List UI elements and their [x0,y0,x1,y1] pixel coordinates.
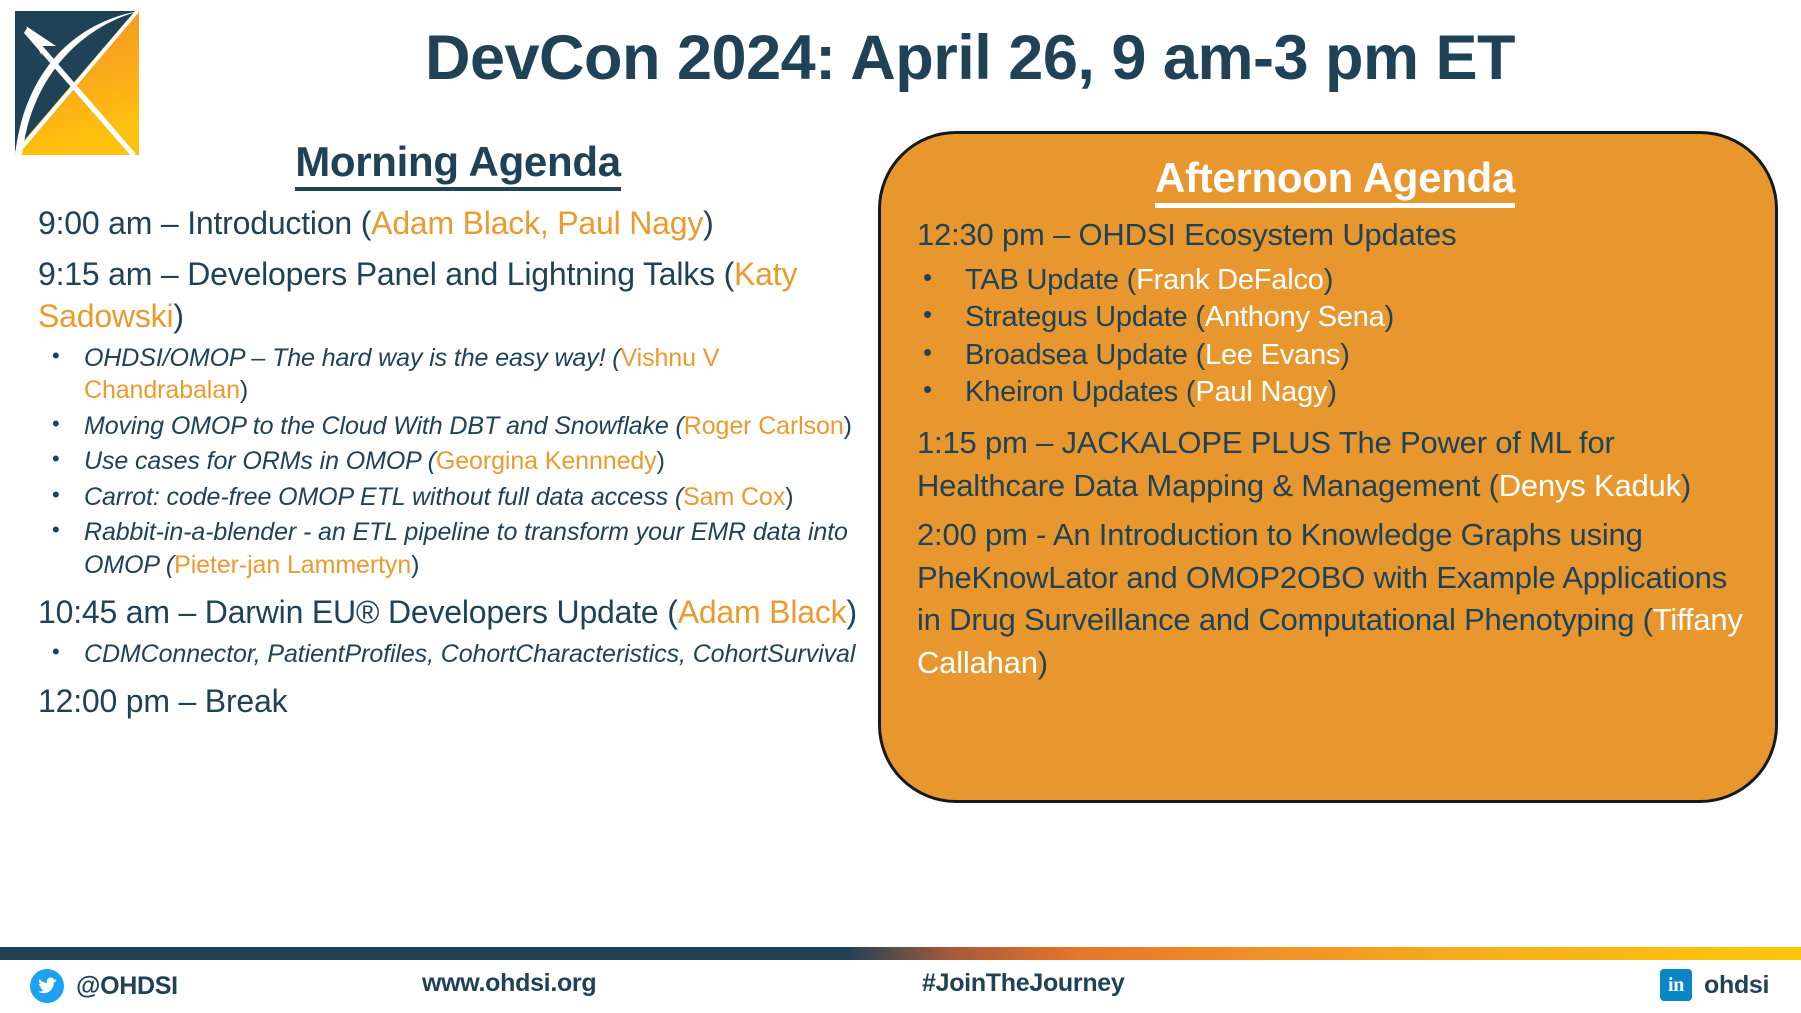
session-speakers: Anthony Sena [1205,301,1385,333]
session-paren-close: ) [657,447,665,475]
footer-twitter-handle: @OHDSI [76,972,178,1001]
footer-hashtag: #JoinTheJourney [922,969,1125,998]
afternoon-agenda-heading-text: Afternoon Agenda [1155,154,1515,208]
session-topic: 10:45 am – Darwin EU® Developers Update … [38,594,678,630]
footer: @OHDSI www.ohdsi.org #JoinTheJourney in … [0,960,1801,1013]
agenda-session: 12:30 pm – OHDSI Ecosystem Updates [917,214,1753,257]
session-paren-close: ) [703,205,713,241]
afternoon-agenda-panel: Afternoon Agenda 12:30 pm – OHDSI Ecosys… [878,131,1778,803]
session-topic: 12:00 pm – Break [38,683,287,719]
session-topic: CDMConnector, PatientProfiles, CohortCha… [84,640,855,668]
footer-website[interactable]: www.ohdsi.org [422,969,596,998]
morning-session-list: 9:00 am – Introduction (Adam Black, Paul… [38,202,878,723]
session-paren-close: ) [1327,376,1336,408]
session-speakers: Georgina Kennnedy [436,447,657,475]
twitter-bird-icon [30,969,64,1003]
session-speakers: Adam Black [678,594,847,630]
agenda-sub-list: OHDSI/OMOP – The hard way is the easy wa… [38,342,878,582]
morning-agenda-heading: Morning Agenda [38,138,878,186]
agenda-sub-item: OHDSI/OMOP – The hard way is the easy wa… [38,342,878,407]
session-speakers: Lee Evans [1205,339,1340,371]
session-speakers: Paul Nagy [1195,376,1327,408]
session-paren-close: ) [240,376,248,404]
agenda-session: 2:00 pm - An Introduction to Knowledge G… [917,514,1753,685]
session-topic: 12:30 pm – OHDSI Ecosystem Updates [917,217,1456,252]
agenda-sub-item: Use cases for ORMs in OMOP (Georgina Ken… [38,445,878,478]
agenda-sub-item: Carrot: code-free OMOP ETL without full … [38,481,878,514]
footer-website-text: www.ohdsi.org [422,969,596,998]
footer-linkedin-handle: ohdsi [1704,971,1769,1000]
session-topic: Use cases for ORMs in OMOP ( [84,447,436,475]
session-speakers: Sam Cox [683,483,785,511]
agenda-sub-item: Kheiron Updates (Paul Nagy) [917,375,1753,410]
agenda-sub-item: Strategus Update (Anthony Sena) [917,300,1753,335]
agenda-session: 1:15 pm – JACKALOPE PLUS The Power of ML… [917,422,1753,508]
session-speakers: Frank DeFalco [1136,264,1324,296]
session-topic: Strategus Update ( [965,301,1205,333]
agenda-sub-item: CDMConnector, PatientProfiles, CohortCha… [38,638,878,671]
session-paren-close: ) [844,412,852,440]
session-topic: Kheiron Updates ( [965,376,1195,408]
agenda-sub-list: TAB Update (Frank DeFalco)Strategus Upda… [917,263,1753,411]
session-topic: OHDSI/OMOP – The hard way is the easy wa… [84,344,621,372]
agenda-sub-item: TAB Update (Frank DeFalco) [917,263,1753,298]
footer-hashtag-text: #JoinTheJourney [922,969,1125,998]
session-paren-close: ) [1385,301,1394,333]
session-topic: Moving OMOP to the Cloud With DBT and Sn… [84,412,684,440]
session-paren-close: ) [411,551,419,579]
session-speakers: Adam Black, Paul Nagy [371,205,703,241]
session-paren-close: ) [173,298,183,334]
agenda-sub-item: Moving OMOP to the Cloud With DBT and Sn… [38,410,878,443]
agenda-session: 12:00 pm – Break [38,680,878,723]
session-paren-close: ) [1324,264,1333,296]
page-title: DevCon 2024: April 26, 9 am-3 pm ET [150,22,1790,94]
session-paren-close: ) [1038,645,1048,680]
linkedin-icon: in [1660,969,1692,1001]
footer-gradient-divider [0,947,1801,960]
session-speakers: Denys Kaduk [1499,468,1681,503]
morning-agenda-column: Morning Agenda 9:00 am – Introduction (A… [38,138,878,731]
agenda-sub-list: CDMConnector, PatientProfiles, CohortCha… [38,638,878,671]
session-topic: 2:00 pm - An Introduction to Knowledge G… [917,517,1727,638]
session-topic: TAB Update ( [965,264,1136,296]
agenda-session: 9:15 am – Developers Panel and Lightning… [38,253,878,338]
morning-agenda-heading-text: Morning Agenda [295,138,621,191]
session-paren-close: ) [846,594,856,630]
agenda-sub-item: Rabbit-in-a-blender - an ETL pipeline to… [38,516,878,581]
session-paren-close: ) [785,483,793,511]
footer-linkedin[interactable]: in ohdsi [1660,969,1769,1001]
session-paren-close: ) [1681,468,1691,503]
session-paren-close: ) [1340,339,1349,371]
session-topic: 9:15 am – Developers Panel and Lightning… [38,256,734,292]
session-topic: Carrot: code-free OMOP ETL without full … [84,483,683,511]
afternoon-session-list: 12:30 pm – OHDSI Ecosystem UpdatesTAB Up… [917,214,1753,685]
ohdsi-logo-icon [12,8,142,158]
agenda-sub-item: Broadsea Update (Lee Evans) [917,338,1753,373]
agenda-session: 9:00 am – Introduction (Adam Black, Paul… [38,202,878,245]
footer-twitter[interactable]: @OHDSI [30,969,178,1003]
session-topic: 9:00 am – Introduction ( [38,205,371,241]
session-topic: Broadsea Update ( [965,339,1205,371]
session-speakers: Pieter-jan Lammertyn [174,551,411,579]
agenda-session: 10:45 am – Darwin EU® Developers Update … [38,591,878,634]
session-speakers: Roger Carlson [684,412,844,440]
afternoon-agenda-heading: Afternoon Agenda [917,154,1753,202]
